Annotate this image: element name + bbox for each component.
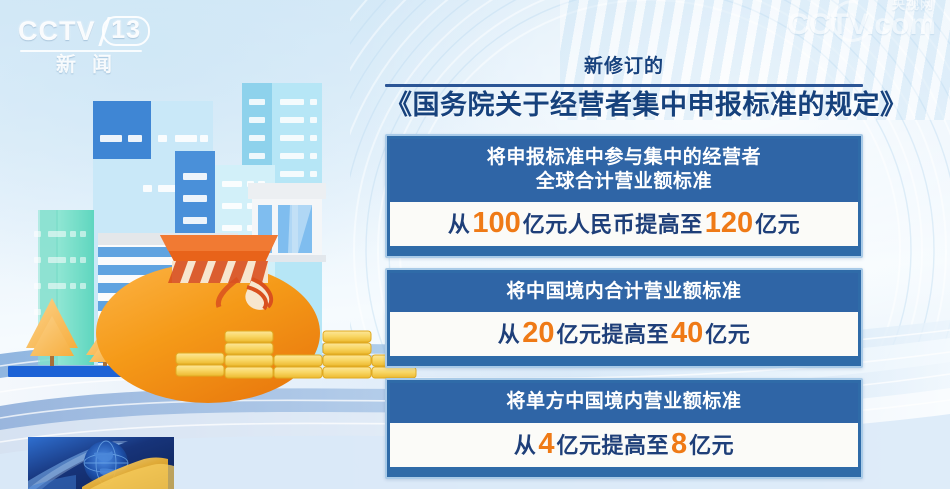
provision-card-1-seg-3: 亿元	[755, 212, 800, 237]
provision-card-3-to-amount: 8	[671, 428, 687, 460]
logo-divider	[20, 50, 142, 52]
kicker-text: 新修订的	[385, 56, 863, 79]
broadcast-graphic-screen: CCTV 13 新 闻 CCTV.com 央视网	[0, 0, 950, 489]
provision-card-3-seg-2: 亿元提高至	[556, 433, 669, 458]
cctv13-channel-logo: CCTV 13 新 闻	[18, 16, 150, 76]
provision-card-2-footer	[390, 356, 858, 363]
news-globe-thumbnail[interactable]	[28, 437, 174, 489]
provision-card-2-header: 将中国境内合计营业额标准	[390, 273, 858, 312]
provision-card-3-from-amount: 4	[538, 428, 554, 460]
logo-slash-icon	[98, 18, 101, 45]
provision-card-3[interactable]: 将单方中国境内营业额标准 从4亿元提高至8亿元	[385, 378, 863, 478]
provision-card-2-seg-1: 从	[498, 322, 521, 347]
provision-card-2-to-amount: 40	[671, 317, 703, 349]
provision-card-3-seg-1: 从	[514, 433, 537, 458]
provision-card-2-value: 从20亿元提高至40亿元	[390, 312, 858, 356]
provision-card-1-seg-2: 亿元人民币提高至	[523, 212, 703, 237]
provision-card-2-from-amount: 20	[522, 317, 554, 349]
provision-card-3-header: 将单方中国境内营业额标准	[390, 383, 858, 422]
cctv-dot-com-watermark: CCTV.com 央视网	[787, 10, 936, 40]
logo-subtitle-char-2: 闻	[92, 54, 112, 76]
provision-card-1-to-amount: 120	[705, 207, 753, 239]
logo-subtitle: 新 闻	[18, 54, 150, 76]
logo-wordmark: CCTV 13	[18, 16, 150, 46]
logo-subtitle-char-1: 新	[56, 54, 76, 76]
headline-panel: 新修订的 《国务院关于经营者集中申报标准的规定》 将申报标准中参与集中的经营者 …	[385, 56, 863, 479]
provision-card-list: 将申报标准中参与集中的经营者 全球合计营业额标准 从100亿元人民币提高至120…	[385, 134, 863, 479]
provision-card-3-footer	[390, 467, 858, 474]
city-money-illustration	[0, 55, 420, 405]
provision-card-1-header-line-1: 将申报标准中参与集中的经营者	[396, 146, 852, 170]
provision-card-2-seg-2: 亿元提高至	[556, 322, 669, 347]
provision-card-2-seg-3: 亿元	[705, 322, 750, 347]
watermark-cn-text: 央视网	[892, 0, 934, 13]
provision-card-2-header-line-1: 将中国境内合计营业额标准	[396, 280, 852, 304]
provision-card-1-header-line-2: 全球合计营业额标准	[396, 170, 852, 194]
title-divider	[385, 84, 863, 87]
provision-card-1-value: 从100亿元人民币提高至120亿元	[390, 202, 858, 246]
provision-card-1-from-amount: 100	[472, 207, 520, 239]
provision-card-2[interactable]: 将中国境内合计营业额标准 从20亿元提高至40亿元	[385, 268, 863, 368]
provision-card-3-seg-3: 亿元	[689, 433, 734, 458]
provision-card-1[interactable]: 将申报标准中参与集中的经营者 全球合计营业额标准 从100亿元人民币提高至120…	[385, 134, 863, 259]
provision-card-3-header-line-1: 将单方中国境内营业额标准	[396, 390, 852, 414]
provision-card-3-value: 从4亿元提高至8亿元	[390, 423, 858, 467]
logo-cctv-text: CCTV	[18, 18, 96, 45]
provision-card-1-header: 将申报标准中参与集中的经营者 全球合计营业额标准	[390, 139, 858, 203]
page-title: 《国务院关于经营者集中申报标准的规定》	[385, 89, 863, 123]
provision-card-1-seg-1: 从	[448, 212, 471, 237]
provision-card-1-footer	[390, 246, 858, 253]
